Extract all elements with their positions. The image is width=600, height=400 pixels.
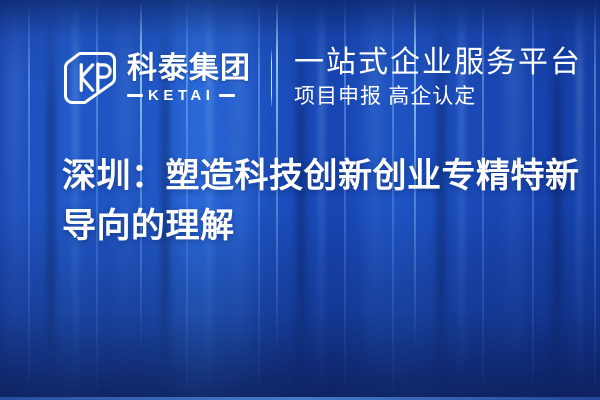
logo-english-row: KETAI <box>127 88 251 103</box>
logo-english-name: KETAI <box>148 88 214 103</box>
article-title: 深圳：塑造科技创新创业专精特新 导向的理解 <box>62 152 562 251</box>
ketai-logo: 科泰集团 KETAI <box>62 50 251 106</box>
light-streak <box>28 0 30 400</box>
header-divider <box>271 49 272 107</box>
light-streak <box>46 0 56 400</box>
logo-right-dash-icon <box>219 94 235 97</box>
article-title-line-1: 深圳：塑造科技创新创业专精特新 <box>62 152 562 202</box>
tagline-main: 一站式企业服务平台 <box>294 46 582 79</box>
logo-chinese-name: 科泰集团 <box>127 53 251 85</box>
logo-left-dash-icon <box>127 94 143 97</box>
logo-wordmark: 科泰集团 KETAI <box>127 53 251 103</box>
article-title-line-2: 导向的理解 <box>62 202 562 252</box>
light-streak <box>594 0 596 400</box>
tagline-sub: 项目申报 高企认定 <box>294 84 582 109</box>
tagline-block: 一站式企业服务平台 项目申报 高企认定 <box>294 46 582 109</box>
banner-header: 科泰集团 KETAI 一站式企业服务平台 项目申报 高企认定 <box>62 44 582 112</box>
article-cover-banner: 科泰集团 KETAI 一站式企业服务平台 项目申报 高企认定 深圳：塑造科技创新… <box>0 0 600 400</box>
light-streak <box>6 0 22 400</box>
ketai-kp-monogram-icon <box>62 50 118 106</box>
